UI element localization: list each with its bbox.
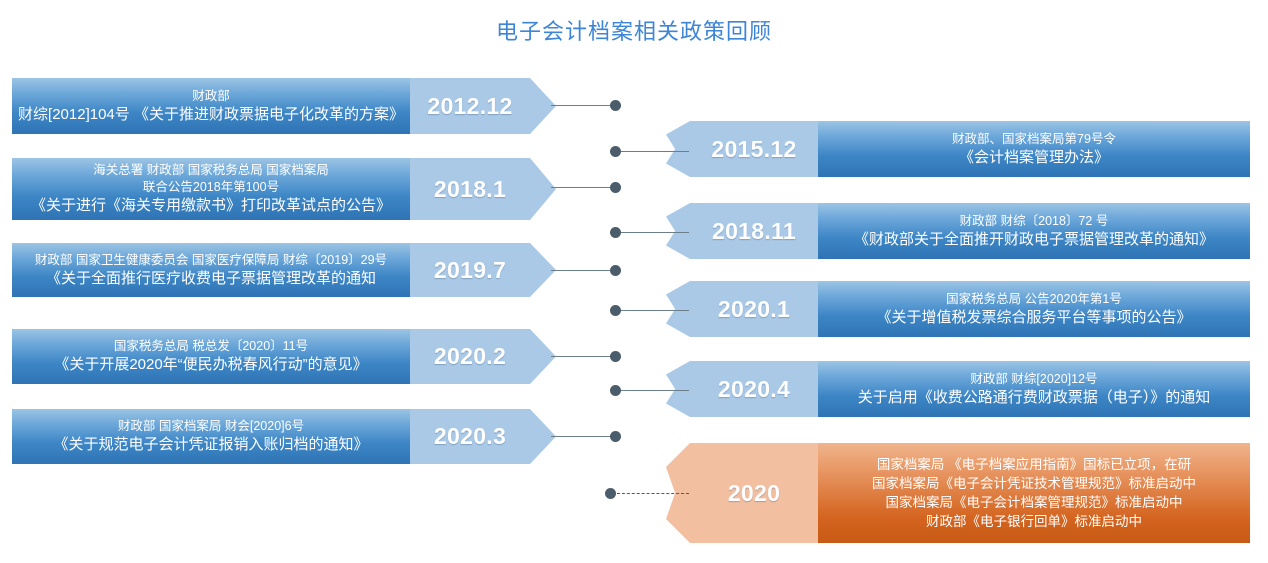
connector-dot [610,305,621,316]
policy-panel: 国家税务总局 税总发〔2020〕11号 《关于开展2020年“便民办税春风行动”… [12,329,410,384]
arrow-right-icon [530,158,556,220]
timeline-row-right-2[interactable]: 2018.11 财政部 财综〔2018〕72 号 《财政部关于全面推开财政电子票… [690,203,1250,259]
date-label: 2020.4 [718,376,790,403]
timeline-row-right-5[interactable]: 2020 国家档案局 《电子档案应用指南》国标已立项，在研 国家档案局《电子会计… [690,443,1250,543]
policy-line-1: 财政部 [192,88,230,105]
policy-panel: 财政部 财综[2020]12号 关于启用《收费公路通行费财政票据（电子）》的通知 [818,361,1250,417]
date-chip: 2018.11 [690,203,818,259]
policy-panel: 财政部 财综〔2018〕72 号 《财政部关于全面推开财政电子票据管理改革的通知… [818,203,1250,259]
policy-line-2: 《会计档案管理办法》 [959,148,1109,168]
policy-panel: 财政部、国家档案局第79号令 《会计档案管理办法》 [818,121,1250,177]
timeline-row-left-3[interactable]: 财政部 国家卫生健康委员会 国家医疗保障局 财综〔2019〕29号 《关于全面推… [12,243,530,297]
date-chip: 2020.3 [410,409,530,464]
timeline-row-left-2[interactable]: 海关总署 财政部 国家税务总局 国家档案局 联合公告2018年第100号 《关于… [12,158,530,220]
policy-line-2: 联合公告2018年第100号 [143,179,279,196]
connector-dot [610,182,621,193]
policy-line-1: 海关总署 财政部 国家税务总局 国家档案局 [93,162,328,179]
timeline-row-left-5[interactable]: 财政部 国家档案局 财会[2020]6号 《关于规范电子会计凭证报销入账归档的通… [12,409,530,464]
policy-line-4: 财政部《电子银行回单》标准启动中 [926,512,1142,531]
policy-panel: 国家税务总局 公告2020年第1号 《关于增值税发票综合服务平台等事项的公告》 [818,281,1250,337]
connector-line [551,105,617,106]
page-title: 电子会计档案相关政策回顾 [0,14,1268,46]
date-label: 2020.1 [718,296,790,323]
arrow-right-icon [530,78,556,134]
arrow-left-icon [666,203,690,259]
connector-dot [610,227,621,238]
date-label: 2020 [728,480,780,507]
policy-line-2: 《关于全面推行医疗收费电子票据管理改革的通知 [46,269,376,289]
arrow-left-icon [666,361,690,417]
date-chip: 2020.1 [690,281,818,337]
policy-line-1: 财政部 财综〔2018〕72 号 [960,213,1109,230]
timeline-row-right-4[interactable]: 2020.4 财政部 财综[2020]12号 关于启用《收费公路通行费财政票据（… [690,361,1250,417]
connector-dot [610,431,621,442]
policy-line-2: 关于启用《收费公路通行费财政票据（电子）》的通知 [858,388,1211,408]
connector-dot [610,100,621,111]
date-label: 2018.1 [434,176,506,203]
connector-dot [610,146,621,157]
date-chip: 2018.1 [410,158,530,220]
policy-line-1: 财政部 财综[2020]12号 [970,371,1097,388]
policy-line-1: 财政部 国家卫生健康委员会 国家医疗保障局 财综〔2019〕29号 [35,252,387,269]
date-label: 2012.12 [427,93,512,120]
policy-panel: 财政部 国家档案局 财会[2020]6号 《关于规范电子会计凭证报销入账归档的通… [12,409,410,464]
connector-line [617,310,689,311]
date-chip: 2015.12 [690,121,818,177]
policy-panel: 财政部 国家卫生健康委员会 国家医疗保障局 财综〔2019〕29号 《关于全面推… [12,243,410,297]
policy-line-2: 财综[2012]104号 《关于推进财政票据电子化改革的方案》 [18,105,404,125]
policy-line-2: 《关于增值税发票综合服务平台等事项的公告》 [876,308,1191,328]
date-chip: 2020.2 [410,329,530,384]
date-chip: 2012.12 [410,78,530,134]
connector-line [551,436,617,437]
timeline-row-left-1[interactable]: 财政部 财综[2012]104号 《关于推进财政票据电子化改革的方案》 2012… [12,78,530,134]
date-chip: 2019.7 [410,243,530,297]
date-label: 2019.7 [434,257,506,284]
connector-line-dashed [617,493,689,494]
policy-panel: 财政部 财综[2012]104号 《关于推进财政票据电子化改革的方案》 [12,78,410,134]
timeline-row-left-4[interactable]: 国家税务总局 税总发〔2020〕11号 《关于开展2020年“便民办税春风行动”… [12,329,530,384]
policy-line-2: 国家档案局《电子会计凭证技术管理规范》标准启动中 [872,474,1196,493]
policy-line-1: 财政部 国家档案局 财会[2020]6号 [118,418,304,435]
connector-line [617,232,689,233]
connector-line [551,187,617,188]
date-chip: 2020.4 [690,361,818,417]
timeline-row-right-3[interactable]: 2020.1 国家税务总局 公告2020年第1号 《关于增值税发票综合服务平台等… [690,281,1250,337]
connector-line [617,151,689,152]
connector-dot [610,351,621,362]
policy-line-1: 国家档案局 《电子档案应用指南》国标已立项，在研 [877,455,1191,474]
policy-line-1: 国家税务总局 税总发〔2020〕11号 [114,338,308,355]
policy-line-3: 《关于进行《海关专用缴款书》打印改革试点的公告》 [31,196,391,216]
date-label: 2018.11 [712,218,796,245]
policy-line-2: 《财政部关于全面推开财政电子票据管理改革的通知》 [854,230,1214,250]
policy-line-1: 国家税务总局 公告2020年第1号 [946,291,1122,308]
date-label: 2020.2 [434,343,506,370]
connector-line [551,270,617,271]
connector-dot [610,385,621,396]
arrow-left-icon [666,281,690,337]
connector-line [551,356,617,357]
policy-panel: 海关总署 财政部 国家税务总局 国家档案局 联合公告2018年第100号 《关于… [12,158,410,220]
connector-line [617,390,689,391]
policy-line-3: 国家档案局《电子会计档案管理规范》标准启动中 [886,493,1183,512]
policy-line-1: 财政部、国家档案局第79号令 [952,131,1116,148]
date-chip-highlight: 2020 [690,443,818,543]
policy-panel-highlight: 国家档案局 《电子档案应用指南》国标已立项，在研 国家档案局《电子会计凭证技术管… [818,443,1250,543]
policy-line-2: 《关于开展2020年“便民办税春风行动”的意见》 [54,355,367,375]
date-label: 2015.12 [711,136,796,163]
connector-dot [605,488,616,499]
connector-dot [610,265,621,276]
policy-line-2: 《关于规范电子会计凭证报销入账归档的通知》 [53,435,368,455]
date-label: 2020.3 [434,423,506,450]
arrow-left-icon [666,121,690,177]
timeline-row-right-1[interactable]: 2015.12 财政部、国家档案局第79号令 《会计档案管理办法》 [690,121,1250,177]
